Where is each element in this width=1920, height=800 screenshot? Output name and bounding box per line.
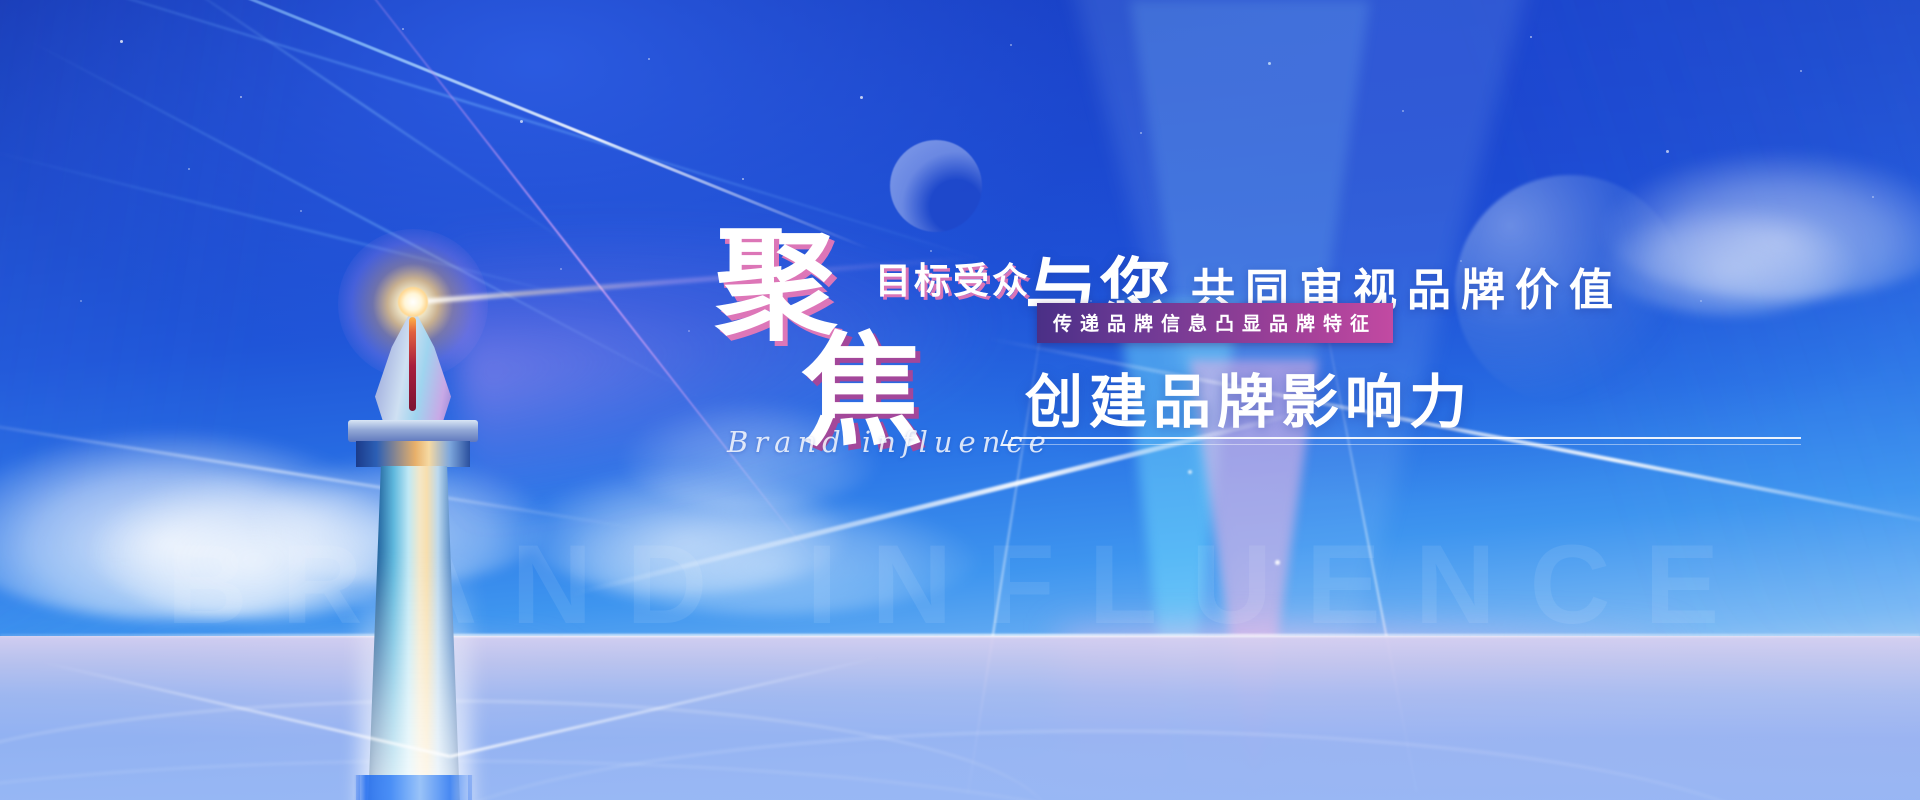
light-beam	[149, 0, 581, 252]
headline-copy-block: 聚 焦 Brand influence 目标受众 与您共同审视品牌价值 传递品牌…	[715, 225, 1895, 645]
tower-shaft-glow	[360, 555, 470, 800]
light-beam	[0, 0, 869, 250]
tower-base-edge	[356, 775, 360, 800]
target-audience-label: 目标受众	[875, 252, 1031, 304]
wave	[0, 700, 1050, 800]
light-beam	[0, 0, 992, 264]
brand-banner: BRAND INFLUENCE 聚 焦 Brand influence 目标受众…	[0, 0, 1920, 800]
headline-line-2: 创建品牌影响力	[1025, 355, 1473, 439]
tower-base	[354, 775, 474, 800]
light-ray	[0, 414, 636, 530]
divider-rule-thin	[1015, 444, 1801, 445]
tower-shaft	[368, 466, 460, 800]
horizon-band	[0, 636, 1920, 800]
ribbon-tagline: 传递品牌信息凸显品牌特征	[1037, 303, 1393, 343]
horizon-glow-lavender	[120, 648, 580, 798]
pen-nib-slit	[409, 317, 416, 411]
wave	[0, 760, 1200, 800]
crescent-moon-icon	[890, 140, 982, 232]
tower-light-cone	[40, 661, 450, 758]
nib-glow	[338, 229, 488, 379]
tower-light-cone	[450, 656, 879, 758]
horizon-glow-pink	[1060, 630, 1680, 800]
cloud	[90, 470, 420, 620]
cloud	[250, 455, 550, 585]
tower-collar	[348, 420, 478, 442]
cloud	[0, 430, 400, 620]
light-beam	[29, 40, 701, 399]
pen-nib-lighthouse-icon	[330, 255, 510, 800]
wave	[400, 730, 1800, 800]
light-wedge-left	[0, 0, 747, 677]
divider-rule	[1011, 437, 1801, 439]
nib-core-light	[398, 287, 428, 317]
tower-base-edge	[468, 775, 472, 800]
pen-nib-shape	[375, 307, 451, 425]
tower-collar-band	[356, 441, 470, 467]
light-beam	[0, 150, 611, 307]
